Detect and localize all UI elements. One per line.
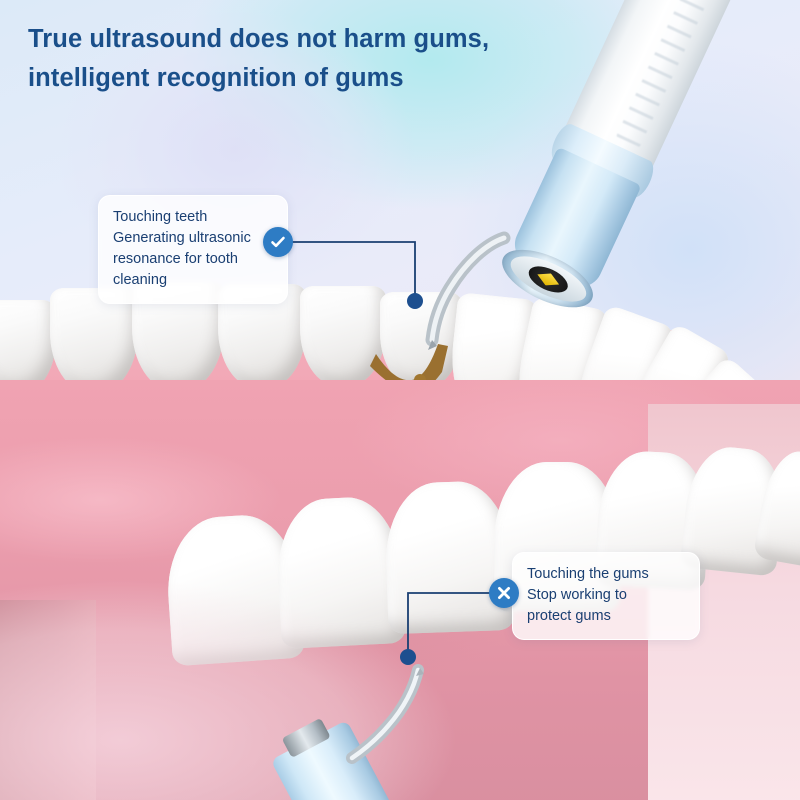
x-circle-icon xyxy=(489,578,519,608)
callout-line: Touching the gums xyxy=(527,564,685,585)
callout-line: resonance for tooth xyxy=(113,249,273,270)
callout-touching-teeth[interactable]: Touching teeth Generating ultrasonic res… xyxy=(98,195,288,304)
scaler-tip-lower xyxy=(330,664,440,774)
callout-line: Generating ultrasonic xyxy=(113,228,273,249)
callout-touching-gums[interactable]: Touching the gums Stop working to protec… xyxy=(512,552,700,640)
check-circle-icon xyxy=(263,227,293,257)
callout-line: protect gums xyxy=(527,606,685,627)
infographic-canvas: True ultrasound does not harm gums, inte… xyxy=(0,0,800,800)
callout-line: cleaning xyxy=(113,270,273,291)
callout-line: Touching teeth xyxy=(113,207,273,228)
callout-line: Stop working to xyxy=(527,585,685,606)
leader-line-teeth xyxy=(278,235,428,315)
page-title: True ultrasound does not harm gums, inte… xyxy=(28,20,528,98)
